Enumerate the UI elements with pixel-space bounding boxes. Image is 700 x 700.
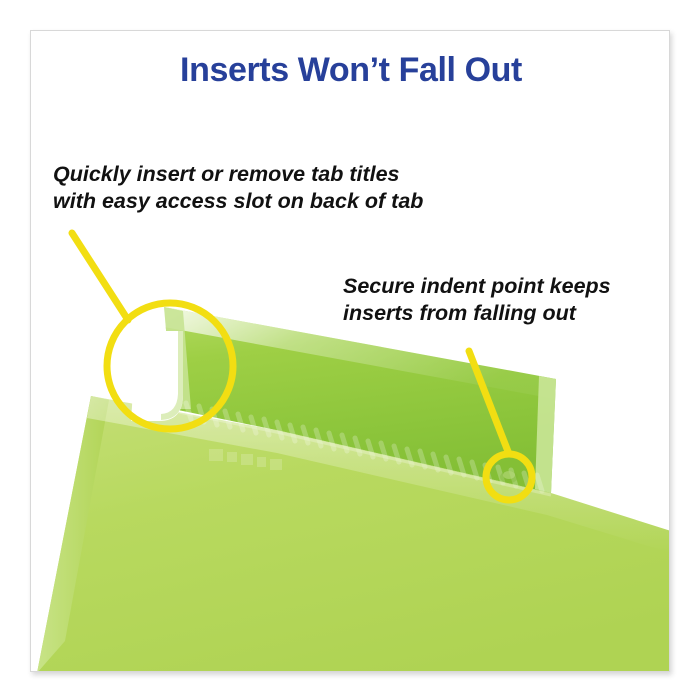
callout-right-leader-line xyxy=(469,351,509,454)
callout-left-caption-line1: Quickly insert or remove tab titles xyxy=(53,161,423,188)
screenshot-root: Inserts Won’t Fall Out Quickly insert or… xyxy=(0,0,700,700)
callout-left-caption-line2: with easy access slot on back of tab xyxy=(53,188,423,215)
callout-right-caption-line1: Secure indent point keeps xyxy=(343,273,611,300)
callout-right-marker xyxy=(469,351,532,500)
product-photograph xyxy=(31,31,670,672)
callout-right-circle xyxy=(486,454,532,500)
callout-left-marker xyxy=(72,233,233,429)
callout-left-leader-line xyxy=(72,233,128,320)
callout-right-caption-line2: inserts from falling out xyxy=(343,300,611,327)
callout-overlay xyxy=(31,31,670,672)
page-title: Inserts Won’t Fall Out xyxy=(31,51,670,90)
product-photo-card: Inserts Won’t Fall Out Quickly insert or… xyxy=(30,30,670,672)
callout-left-circle xyxy=(107,303,233,429)
callout-right-caption: Secure indent point keeps inserts from f… xyxy=(343,273,611,327)
callout-left-caption: Quickly insert or remove tab titles with… xyxy=(53,161,423,215)
